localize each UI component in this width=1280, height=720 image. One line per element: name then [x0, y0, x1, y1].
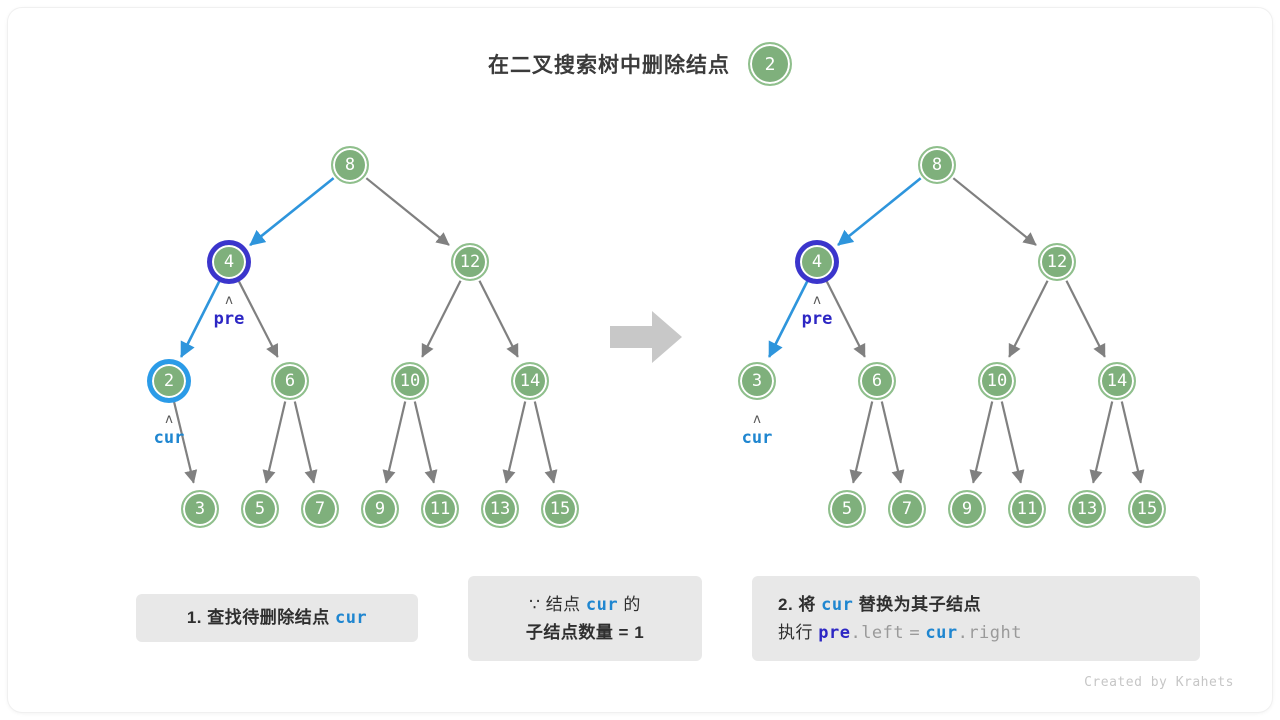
tree-node-15[interactable]: 15 [1128, 490, 1166, 528]
tree-edge [953, 178, 1036, 245]
tree-node-label: 14 [520, 371, 540, 391]
tree-edge [479, 281, 517, 357]
tree-node-label: 9 [375, 499, 385, 519]
tree-edge [366, 178, 449, 245]
tree-node-label: 10 [987, 371, 1007, 391]
pointer-label: cur [742, 428, 773, 448]
tree-node-7[interactable]: 7 [888, 490, 926, 528]
tree-edge [882, 401, 901, 482]
step-badge-label: 2 [765, 54, 776, 75]
page-title: 在二叉搜索树中删除结点 [488, 49, 730, 79]
tree-node-9[interactable]: 9 [361, 490, 399, 528]
tree-node-5[interactable]: 5 [828, 490, 866, 528]
tree-node-label: 2 [164, 371, 174, 391]
tree-node-8[interactable]: 8 [331, 146, 369, 184]
tree-node-label: 7 [315, 499, 325, 519]
tree-node-label: 6 [285, 371, 295, 391]
caption-step-2-cur-field: .right [958, 623, 1022, 643]
tree-edge [1002, 401, 1021, 482]
caption-step-2-cur: cur [925, 623, 957, 643]
tree-node-7[interactable]: 7 [301, 490, 339, 528]
tree-node-8[interactable]: 8 [918, 146, 956, 184]
tree-node-2[interactable]: 2 [150, 362, 188, 400]
tree-edge [250, 178, 334, 245]
pointer-label: cur [154, 428, 185, 448]
tree-node-label: 15 [550, 499, 570, 519]
pointer-marker-pre: ʌpre [777, 296, 857, 329]
tree-node-label: 14 [1107, 371, 1127, 391]
pointer-marker-cur: ʌcur [717, 415, 797, 448]
caption-step-2-exec-label: 执行 [778, 623, 813, 642]
pointer-label: pre [802, 309, 833, 329]
tree-edge [174, 401, 194, 482]
pointer-marker-pre: ʌpre [189, 296, 269, 329]
tree-edge [826, 281, 864, 357]
tree-node-4[interactable]: 4 [210, 243, 248, 281]
tree-node-5[interactable]: 5 [241, 490, 279, 528]
tree-node-12[interactable]: 12 [451, 243, 489, 281]
tree-node-12[interactable]: 12 [1038, 243, 1076, 281]
tree-edge [1009, 281, 1047, 357]
caption-reason-code: cur [586, 595, 618, 615]
caption-step-2-text-a: 2. 将 [778, 595, 816, 614]
caret-icon: ʌ [165, 415, 173, 424]
caption-step-2-pre: pre [818, 623, 850, 643]
caption-step-1-line: 1. 查找待删除结点 cur [187, 604, 367, 632]
tree-node-label: 3 [752, 371, 762, 391]
right-arrow-icon [608, 308, 684, 371]
caption-reason: ∵ 结点 cur 的 子结点数量 = 1 [468, 576, 702, 661]
tree-edge [973, 401, 992, 482]
caret-icon: ʌ [813, 296, 821, 305]
tree-node-label: 5 [842, 499, 852, 519]
tree-node-label: 9 [962, 499, 972, 519]
tree-edge [838, 178, 921, 245]
tree-edge [422, 281, 460, 357]
caption-step-1: 1. 查找待删除结点 cur [136, 594, 418, 642]
tree-node-label: 15 [1137, 499, 1157, 519]
tree-node-14[interactable]: 14 [511, 362, 549, 400]
page-title-row: 在二叉搜索树中删除结点 2 [8, 42, 1272, 86]
tree-edge [415, 401, 434, 482]
tree-node-label: 3 [195, 499, 205, 519]
caption-step-2-text-b: 替换为其子结点 [859, 595, 982, 614]
edges-after [769, 178, 1141, 483]
caption-reason-line-2: 子结点数量 = 1 [526, 619, 644, 647]
tree-edge [1122, 401, 1141, 482]
tree-node-label: 8 [345, 155, 355, 175]
tree-node-14[interactable]: 14 [1098, 362, 1136, 400]
tree-node-label: 11 [430, 499, 450, 519]
caption-step-1-prefix: 1. 查找待删除结点 [187, 608, 330, 627]
caption-step-2-pre-field: .left [850, 623, 904, 643]
tree-node-label: 4 [812, 252, 822, 272]
tree-node-label: 13 [490, 499, 510, 519]
tree-node-4[interactable]: 4 [798, 243, 836, 281]
tree-edge [1066, 281, 1104, 357]
because-symbol: ∵ [529, 595, 540, 614]
tree-node-3[interactable]: 3 [738, 362, 776, 400]
tree-edge [853, 401, 872, 482]
tree-edge [535, 401, 554, 482]
tree-node-label: 13 [1077, 499, 1097, 519]
tree-node-6[interactable]: 6 [271, 362, 309, 400]
caption-step-1-code: cur [335, 608, 367, 628]
step-badge: 2 [748, 42, 792, 86]
caret-icon: ʌ [753, 415, 761, 424]
diagram-card: 在二叉搜索树中删除结点 2 84122610143579111315ʌpreʌc… [8, 8, 1272, 712]
tree-node-3[interactable]: 3 [181, 490, 219, 528]
tree-node-11[interactable]: 11 [1008, 490, 1046, 528]
tree-node-9[interactable]: 9 [948, 490, 986, 528]
tree-node-label: 10 [400, 371, 420, 391]
tree-node-label: 12 [1047, 252, 1067, 272]
tree-node-10[interactable]: 10 [391, 362, 429, 400]
caption-step-2-code-cur: cur [821, 595, 853, 615]
caption-step-2-equals: = [909, 623, 920, 643]
tree-node-label: 12 [460, 252, 480, 272]
tree-node-label: 7 [902, 499, 912, 519]
caption-step-2-line-1: 2. 将 cur 替换为其子结点 [778, 591, 1174, 619]
caption-step-2-line-2: 执行 pre.left = cur.right [778, 619, 1174, 647]
tree-node-15[interactable]: 15 [541, 490, 579, 528]
caret-icon: ʌ [225, 296, 233, 305]
tree-edge [266, 401, 285, 482]
tree-node-6[interactable]: 6 [858, 362, 896, 400]
pointer-marker-cur: ʌcur [129, 415, 209, 448]
caption-reason-line-1: ∵ 结点 cur 的 [529, 591, 641, 619]
tree-edge [295, 401, 314, 482]
pointer-label: pre [214, 309, 245, 329]
caption-reason-text-b: 的 [623, 595, 641, 614]
tree-node-10[interactable]: 10 [978, 362, 1016, 400]
tree-node-11[interactable]: 11 [421, 490, 459, 528]
tree-edge [769, 281, 807, 357]
tree-node-13[interactable]: 13 [481, 490, 519, 528]
caption-step-2: 2. 将 cur 替换为其子结点 执行 pre.left = cur.right [752, 576, 1200, 661]
tree-node-label: 11 [1017, 499, 1037, 519]
tree-edge [239, 281, 278, 357]
tree-edge [386, 401, 405, 482]
tree-edge [506, 401, 525, 482]
tree-node-13[interactable]: 13 [1068, 490, 1106, 528]
tree-node-label: 8 [932, 155, 942, 175]
edges-before [174, 178, 554, 483]
tree-edge [181, 281, 219, 357]
tree-node-label: 5 [255, 499, 265, 519]
tree-node-label: 4 [224, 252, 234, 272]
tree-edge [1093, 401, 1112, 482]
credit-text: Created by Krahets [1084, 675, 1234, 690]
tree-node-label: 6 [872, 371, 882, 391]
caption-reason-text-a: 结点 [546, 595, 581, 614]
